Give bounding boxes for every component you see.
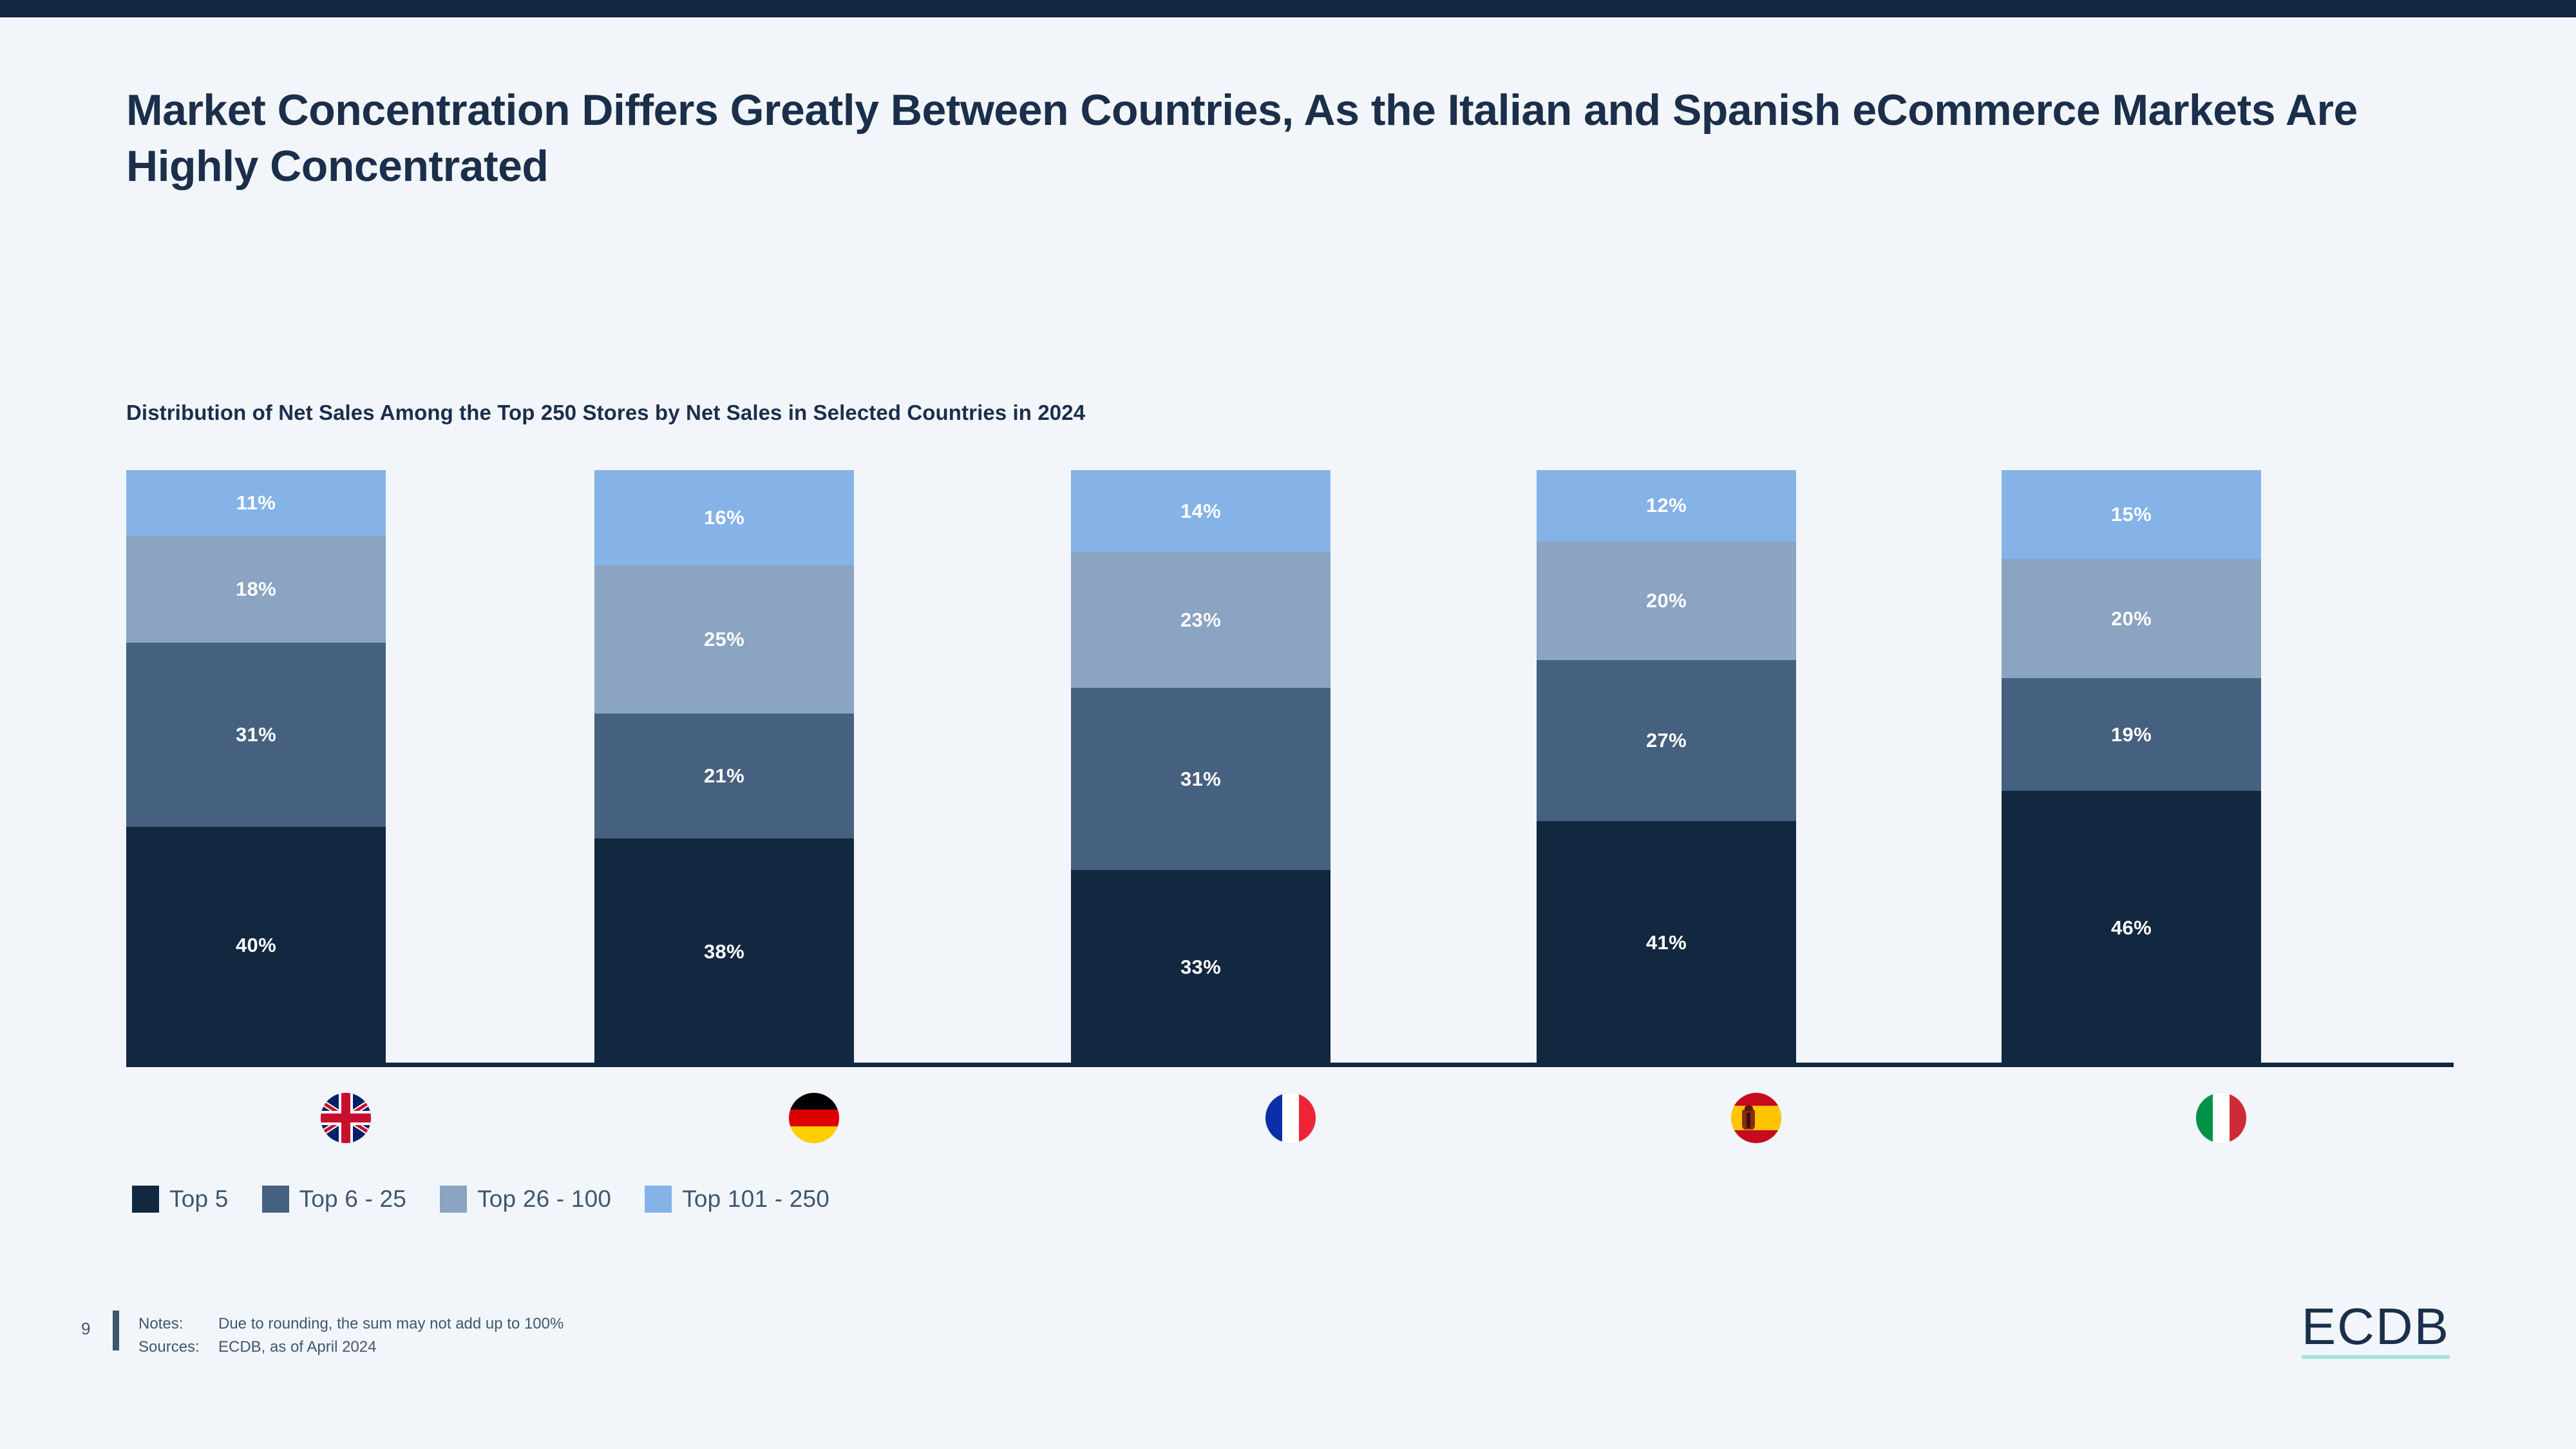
bar-segment: 41% <box>1537 821 1796 1065</box>
bar-segment: 20% <box>1537 542 1796 661</box>
bar-segment-label: 19% <box>2111 723 2152 746</box>
bar-segment-label: 18% <box>236 578 276 601</box>
ecdb-logo: ECDB <box>2302 1302 2450 1359</box>
page-title: Market Concentration Differs Greatly Bet… <box>126 82 2496 194</box>
bar-segment: 46% <box>2002 791 2261 1065</box>
bar-segment-label: 20% <box>1646 589 1687 612</box>
footer-divider <box>113 1311 119 1350</box>
footer-sources-row: Sources: ECDB, as of April 2024 <box>138 1336 563 1359</box>
bar-segment-label: 14% <box>1180 500 1221 523</box>
bar-segment: 33% <box>1071 870 1331 1065</box>
legend-swatch <box>132 1186 159 1213</box>
flag-spain-wrapper <box>1731 1093 1781 1143</box>
bar-segment-label: 33% <box>1180 956 1221 979</box>
bar-segment: 27% <box>1537 660 1796 820</box>
legend-label: Top 101 - 250 <box>682 1186 829 1213</box>
bar-segment: 25% <box>594 565 854 714</box>
bar-segment-label: 25% <box>704 628 744 651</box>
bar-segment: 40% <box>126 827 386 1065</box>
legend-label: Top 5 <box>169 1186 229 1213</box>
bar-segment: 23% <box>1071 553 1331 688</box>
bar-segment: 18% <box>126 536 386 643</box>
bar-segment-label: 23% <box>1180 609 1221 632</box>
legend-swatch <box>645 1186 672 1213</box>
legend-label: Top 6 - 25 <box>299 1186 407 1213</box>
bar-segment: 11% <box>126 470 386 536</box>
bar-united-kingdom: 11%18%31%40% <box>126 470 386 1065</box>
bar-segment: 20% <box>2002 559 2261 678</box>
flag-spain-icon <box>1731 1093 1781 1143</box>
flag-italy-wrapper <box>2196 1093 2246 1143</box>
bar-segment: 38% <box>594 838 854 1065</box>
legend-item[interactable]: Top 5 <box>132 1186 229 1213</box>
bar-segment-label: 41% <box>1646 931 1687 954</box>
bar-segment: 16% <box>594 470 854 565</box>
legend-item[interactable]: Top 6 - 25 <box>262 1186 407 1213</box>
top-accent-bar <box>0 0 2576 17</box>
bar-segment-label: 21% <box>704 764 744 788</box>
legend-item[interactable]: Top 101 - 250 <box>645 1186 829 1213</box>
flag-france-wrapper <box>1265 1093 1316 1143</box>
flag-uk-wrapper <box>321 1093 371 1143</box>
bar-spain: 12%20%27%41% <box>1537 470 1796 1065</box>
bar-segment: 12% <box>1537 470 1796 542</box>
bar-segment-label: 40% <box>236 934 276 957</box>
flag-france-icon <box>1265 1093 1316 1143</box>
bar-segment-label: 11% <box>236 491 276 515</box>
flag-italy-icon <box>2196 1093 2246 1143</box>
bar-segment-label: 15% <box>2111 503 2152 526</box>
bar-segment: 21% <box>594 714 854 838</box>
bar-segment-label: 27% <box>1646 729 1687 752</box>
bar-france: 14%23%31%33% <box>1071 470 1331 1065</box>
sources-label: Sources: <box>138 1336 218 1359</box>
bar-segment-label: 16% <box>704 506 744 529</box>
legend-swatch <box>262 1186 289 1213</box>
ecdb-logo-text: ECDB <box>2302 1302 2450 1351</box>
bar-segment: 15% <box>2002 470 2261 559</box>
bar-italy: 15%20%19%46% <box>2002 470 2261 1065</box>
bar-segment-label: 38% <box>704 940 744 963</box>
notes-label: Notes: <box>138 1312 218 1336</box>
flag-uk-icon <box>321 1093 371 1143</box>
bar-segment: 14% <box>1071 470 1331 553</box>
legend-swatch <box>440 1186 467 1213</box>
bar-germany: 16%25%21%38% <box>594 470 854 1065</box>
bar-segment: 31% <box>126 643 386 827</box>
ecdb-logo-underline <box>2302 1355 2450 1359</box>
footer-notes-row: Notes: Due to rounding, the sum may not … <box>138 1312 563 1336</box>
flag-germany-wrapper <box>789 1093 839 1143</box>
bar-segment-label: 20% <box>2111 607 2152 630</box>
page-number: 9 <box>81 1319 90 1339</box>
notes-value: Due to rounding, the sum may not add up … <box>218 1312 563 1336</box>
bar-segment-label: 31% <box>236 723 276 746</box>
sources-value: ECDB, as of April 2024 <box>218 1336 376 1359</box>
legend-label: Top 26 - 100 <box>477 1186 611 1213</box>
bar-segment-label: 12% <box>1646 494 1687 517</box>
bar-segment-label: 46% <box>2111 916 2152 940</box>
chart-baseline-axis <box>126 1063 2454 1067</box>
footer-notes: Notes: Due to rounding, the sum may not … <box>138 1312 563 1359</box>
bar-segment-label: 31% <box>1180 768 1221 791</box>
chart-legend: Top 5Top 6 - 25Top 26 - 100Top 101 - 250 <box>132 1186 863 1213</box>
flag-germany-icon <box>789 1093 839 1143</box>
stacked-bar-chart: 11%18%31%40%16%25%21%38%14%23%31%33%12%2… <box>126 470 2454 1065</box>
chart-subtitle: Distribution of Net Sales Among the Top … <box>126 401 1085 425</box>
bar-segment: 19% <box>2002 678 2261 791</box>
legend-item[interactable]: Top 26 - 100 <box>440 1186 611 1213</box>
bar-segment: 31% <box>1071 688 1331 870</box>
